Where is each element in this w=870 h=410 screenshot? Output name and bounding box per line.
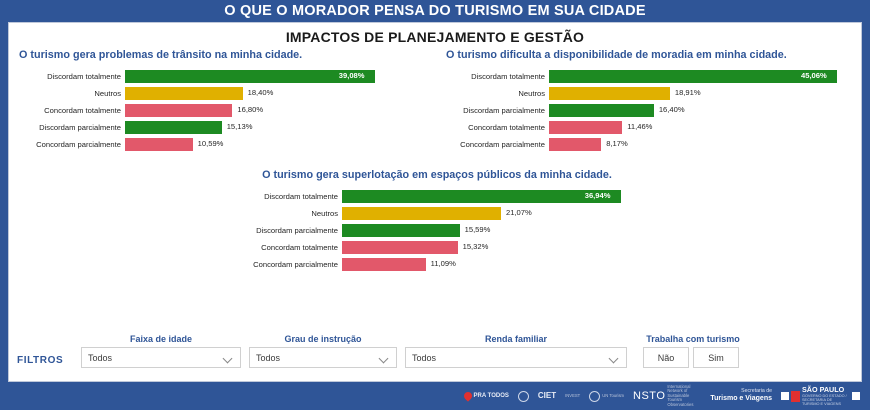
bar-track: 11,46% — [549, 121, 857, 134]
toggle-option-sim[interactable]: Sim — [693, 347, 739, 368]
chart-bar-row: Discordam totalmente45,06% — [437, 70, 857, 83]
bar-track: 15,59% — [342, 224, 697, 237]
bar-track: 15,13% — [125, 121, 433, 134]
filter-grau-de-instrucao-dropdown[interactable]: Todos — [249, 347, 397, 368]
bar-green[interactable] — [342, 190, 621, 203]
filter-faixa-de-idade: Faixa de idade Todos — [81, 334, 241, 368]
filter-trabalha-toggle: Não Sim — [643, 347, 743, 368]
bar-category-label: Discordam parcialmente — [13, 123, 125, 132]
bar-value-label: 18,40% — [248, 88, 274, 97]
bar-green[interactable] — [125, 70, 375, 83]
filter-value: Todos — [406, 353, 436, 363]
bar-yellow[interactable] — [549, 87, 670, 100]
filter-caption: Renda familiar — [405, 334, 627, 344]
chart-bar-row: Concordam totalmente16,80% — [13, 104, 433, 117]
bar-track: 18,40% — [125, 87, 433, 100]
logo-pra-todos: PRA TODOS — [464, 388, 509, 404]
chart-bar-row: Concordam parcialmente11,09% — [177, 258, 697, 271]
bar-red[interactable] — [125, 138, 193, 151]
logo-invest: INVEST — [565, 388, 580, 404]
bar-red[interactable] — [549, 121, 622, 134]
page-subtitle: IMPACTOS DE PLANEJAMENTO E GESTÃO — [9, 29, 861, 45]
flag-square-icon — [781, 392, 789, 400]
filter-value: Todos — [82, 353, 112, 363]
bar-category-label: Discordam totalmente — [13, 72, 125, 81]
bar-category-label: Neutros — [177, 209, 342, 218]
chart-title: O turismo gera superlotação em espaços p… — [177, 169, 697, 181]
chart-bar-row: Discordam parcialmente15,59% — [177, 224, 697, 237]
bar-track: 16,80% — [125, 104, 433, 117]
chart-title: O turismo dificulta a disponibilidade de… — [437, 49, 857, 61]
chart-bar-row: Concordam parcialmente8,17% — [437, 138, 857, 151]
logo-secretaria-turismo: Secretaria de Turismo e Viagens — [710, 388, 772, 404]
bar-value-label: 18,91% — [675, 88, 701, 97]
filter-grau-de-instrucao: Grau de instrução Todos — [249, 334, 397, 368]
filter-caption: Grau de instrução — [249, 334, 397, 344]
flag-square-icon — [852, 392, 860, 400]
toggle-option-nao[interactable]: Não — [643, 347, 689, 368]
chart-bar-row: Discordam totalmente36,94% — [177, 190, 697, 203]
bar-value-label: 15,32% — [463, 242, 489, 251]
logo-partner-circle — [518, 388, 529, 404]
bar-red[interactable] — [125, 104, 232, 117]
bar-value-label: 10,59% — [198, 139, 224, 148]
logo-label: PRA TODOS — [474, 393, 509, 399]
logo-ciet: CIET — [538, 388, 556, 404]
bar-track: 18,91% — [549, 87, 857, 100]
filter-caption: Faixa de idade — [81, 334, 241, 344]
chart-bars: Discordam totalmente36,94%Neutros21,07%D… — [177, 190, 697, 271]
chart-bar-row: Concordam totalmente11,46% — [437, 121, 857, 134]
bar-value-label: 16,40% — [659, 105, 685, 114]
bar-green[interactable] — [549, 70, 837, 83]
globe-icon — [589, 391, 600, 402]
dashboard-title-bar: O QUE O MORADOR PENSA DO TURISMO EM SUA … — [0, 0, 870, 22]
bar-yellow[interactable] — [125, 87, 243, 100]
bar-yellow[interactable] — [342, 207, 501, 220]
logo-label: NSTO — [633, 390, 665, 402]
filter-renda-familiar-dropdown[interactable]: Todos — [405, 347, 627, 368]
bar-category-label: Concordam totalmente — [13, 106, 125, 115]
bar-green[interactable] — [125, 121, 222, 134]
footer-bar: PRA TODOS CIET INVEST UN Tourism NSTO In… — [0, 382, 870, 410]
flag-red-icon — [791, 391, 800, 402]
logo-label: INVEST — [565, 394, 580, 398]
bar-value-label: 11,09% — [431, 259, 456, 268]
logo-line2: GOVERNO DO ESTADO / SECRETARIA DE TURISM… — [802, 394, 850, 406]
footer-logos: PRA TODOS CIET INVEST UN Tourism NSTO In… — [464, 382, 860, 410]
bar-red[interactable] — [342, 241, 458, 254]
filters-label: FILTROS — [17, 355, 63, 366]
bar-value-label: 21,07% — [506, 208, 532, 217]
bar-track: 8,17% — [549, 138, 857, 151]
chevron-down-icon — [380, 355, 389, 360]
chart-bar-row: Concordam parcialmente10,59% — [13, 138, 433, 151]
bar-category-label: Concordam parcialmente — [13, 140, 125, 149]
bar-value-label: 16,80% — [237, 105, 263, 114]
chart-title: O turismo gera problemas de trânsito na … — [13, 49, 433, 61]
logo-label: UN Tourism — [602, 394, 624, 398]
chart-bar-row: Discordam parcialmente15,13% — [13, 121, 433, 134]
dashboard-canvas: IMPACTOS DE PLANEJAMENTO E GESTÃO O turi… — [8, 22, 862, 382]
logo-sao-paulo: SÃO PAULO GOVERNO DO ESTADO / SECRETARIA… — [781, 388, 860, 404]
bar-track: 16,40% — [549, 104, 857, 117]
bar-track: 45,06% — [549, 70, 857, 83]
logo-label: CIET — [538, 392, 556, 400]
bar-red[interactable] — [342, 258, 426, 271]
chart-bars: Discordam totalmente45,06%Neutros18,91%D… — [437, 70, 857, 151]
circle-emblem-icon — [518, 391, 529, 402]
filter-caption: Trabalha com turismo — [643, 334, 743, 344]
bar-category-label: Neutros — [437, 89, 549, 98]
chart-superlotacao: O turismo gera superlotação em espaços p… — [177, 169, 697, 275]
bar-track: 11,09% — [342, 258, 697, 271]
chart-bar-row: Neutros18,40% — [13, 87, 433, 100]
bar-track: 10,59% — [125, 138, 433, 151]
bar-category-label: Concordam totalmente — [177, 243, 342, 252]
filter-trabalha-com-turismo: Trabalha com turismo Não Sim — [643, 334, 743, 368]
bar-track: 21,07% — [342, 207, 697, 220]
bar-category-label: Concordam parcialmente — [437, 140, 549, 149]
bar-value-label: 45,06% — [801, 71, 827, 80]
filters-bar: FILTROS Faixa de idade Todos Grau de ins… — [9, 328, 861, 382]
bar-category-label: Concordam totalmente — [437, 123, 549, 132]
bar-red[interactable] — [549, 138, 601, 151]
bar-value-label: 15,59% — [465, 225, 491, 234]
bar-value-label: 36,94% — [585, 191, 611, 200]
bar-value-label: 8,17% — [606, 139, 628, 148]
bar-category-label: Discordam parcialmente — [177, 226, 342, 235]
bar-green[interactable] — [342, 224, 460, 237]
filter-renda-familiar: Renda familiar Todos — [405, 334, 627, 368]
bar-category-label: Discordam totalmente — [437, 72, 549, 81]
bar-category-label: Neutros — [13, 89, 125, 98]
chart-transito: O turismo gera problemas de trânsito na … — [13, 49, 433, 155]
bar-category-label: Concordam parcialmente — [177, 260, 342, 269]
logo-line1: SÃO PAULO — [802, 386, 850, 394]
filter-value: Todos — [250, 353, 280, 363]
bar-category-label: Discordam totalmente — [177, 192, 342, 201]
bar-track: 15,32% — [342, 241, 697, 254]
chevron-down-icon — [610, 355, 619, 360]
chart-bar-row: Neutros18,91% — [437, 87, 857, 100]
chart-bar-row: Discordam totalmente39,08% — [13, 70, 433, 83]
bar-category-label: Discordam parcialmente — [437, 106, 549, 115]
logo-line2: Turismo e Viagens — [710, 395, 772, 403]
chevron-down-icon — [224, 355, 233, 360]
map-pin-icon — [462, 390, 473, 401]
chart-bar-row: Neutros21,07% — [177, 207, 697, 220]
chart-bar-row: Discordam parcialmente16,40% — [437, 104, 857, 117]
bar-track: 39,08% — [125, 70, 433, 83]
chart-moradia: O turismo dificulta a disponibilidade de… — [437, 49, 857, 155]
logo-un-tourism: UN Tourism — [589, 388, 624, 404]
bar-track: 36,94% — [342, 190, 697, 203]
bar-green[interactable] — [549, 104, 654, 117]
bar-value-label: 15,13% — [227, 122, 253, 131]
chart-bars: Discordam totalmente39,08%Neutros18,40%C… — [13, 70, 433, 151]
dashboard-root: O QUE O MORADOR PENSA DO TURISMO EM SUA … — [0, 0, 870, 410]
logo-sublabel: International Network of Sustainable Tou… — [667, 385, 701, 407]
filter-faixa-de-idade-dropdown[interactable]: Todos — [81, 347, 241, 368]
bar-value-label: 11,46% — [627, 122, 652, 131]
page-title: O QUE O MORADOR PENSA DO TURISMO EM SUA … — [224, 3, 645, 19]
logo-insto: NSTO International Network of Sustainabl… — [633, 388, 701, 404]
bar-value-label: 39,08% — [339, 71, 365, 80]
chart-bar-row: Concordam totalmente15,32% — [177, 241, 697, 254]
